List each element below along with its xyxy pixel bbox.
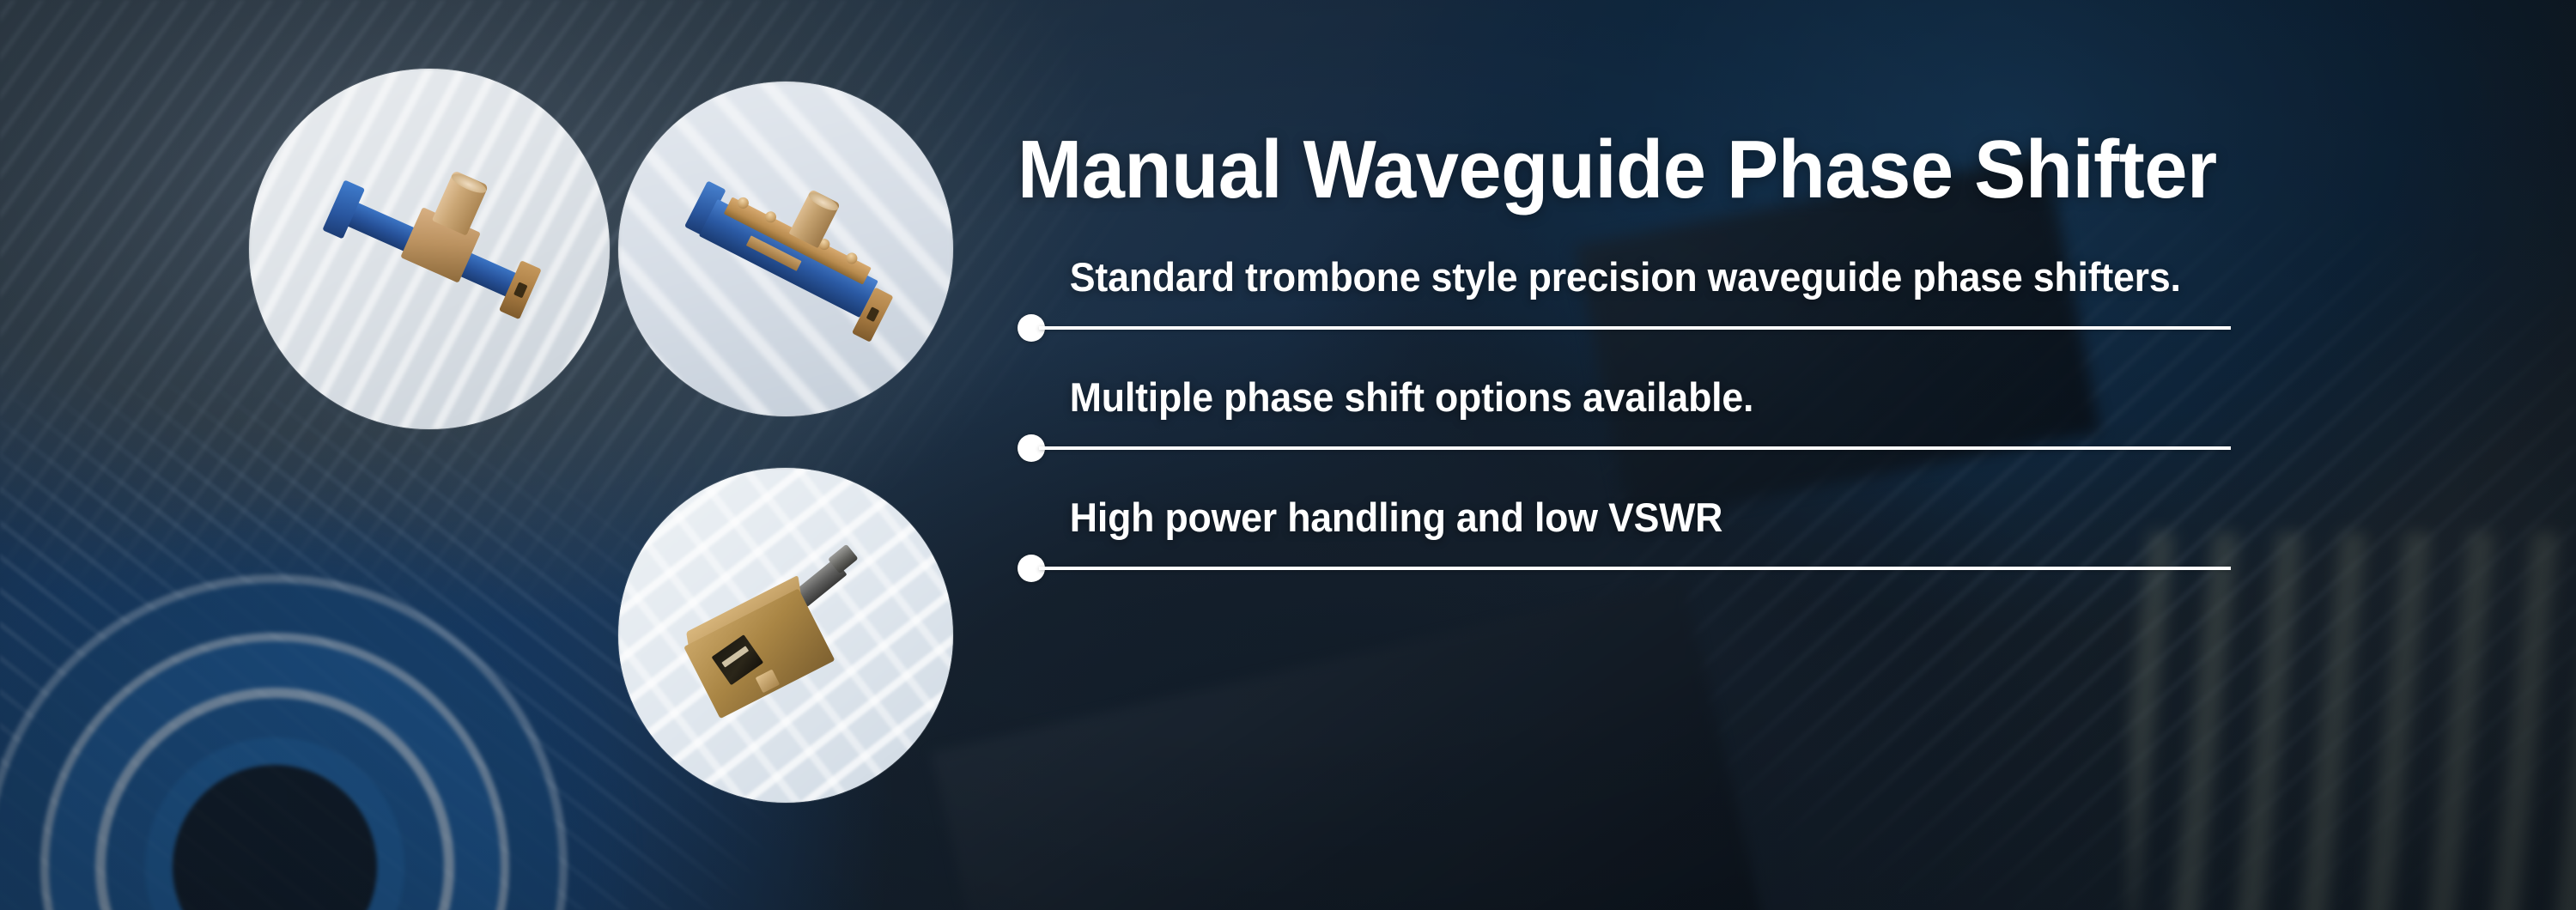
- feature-item-3: High power handling and low VSWR: [1018, 491, 2245, 582]
- feature-text-1: Standard trombone style precision wavegu…: [1018, 251, 2184, 304]
- divider-line: [1039, 567, 2231, 570]
- feature-item-1: Standard trombone style precision wavegu…: [1018, 251, 2245, 342]
- feature-text-2: Multiple phase shift options available.: [1018, 371, 2184, 424]
- feature-divider-2: [1018, 434, 2245, 462]
- feature-item-2: Multiple phase shift options available.: [1018, 371, 2245, 462]
- product-image-brass-micrometer-phase-shifter[interactable]: [618, 468, 953, 803]
- feature-divider-3: [1018, 555, 2245, 582]
- feature-text-3: High power handling and low VSWR: [1018, 491, 2184, 544]
- page-title: Manual Waveguide Phase Shifter: [1018, 129, 2172, 211]
- product-image-waveguide-trombone-phase-shifter[interactable]: [618, 82, 953, 416]
- product-banner: Manual Waveguide Phase Shifter Standard …: [0, 0, 2576, 910]
- divider-line: [1039, 326, 2231, 330]
- feature-divider-1: [1018, 314, 2245, 342]
- divider-line: [1039, 446, 2231, 450]
- banner-content: Manual Waveguide Phase Shifter Standard …: [1018, 129, 2245, 611]
- product-image-waveguide-phase-shifter-with-knob[interactable]: [249, 69, 610, 429]
- feature-list: Standard trombone style precision wavegu…: [1018, 251, 2245, 582]
